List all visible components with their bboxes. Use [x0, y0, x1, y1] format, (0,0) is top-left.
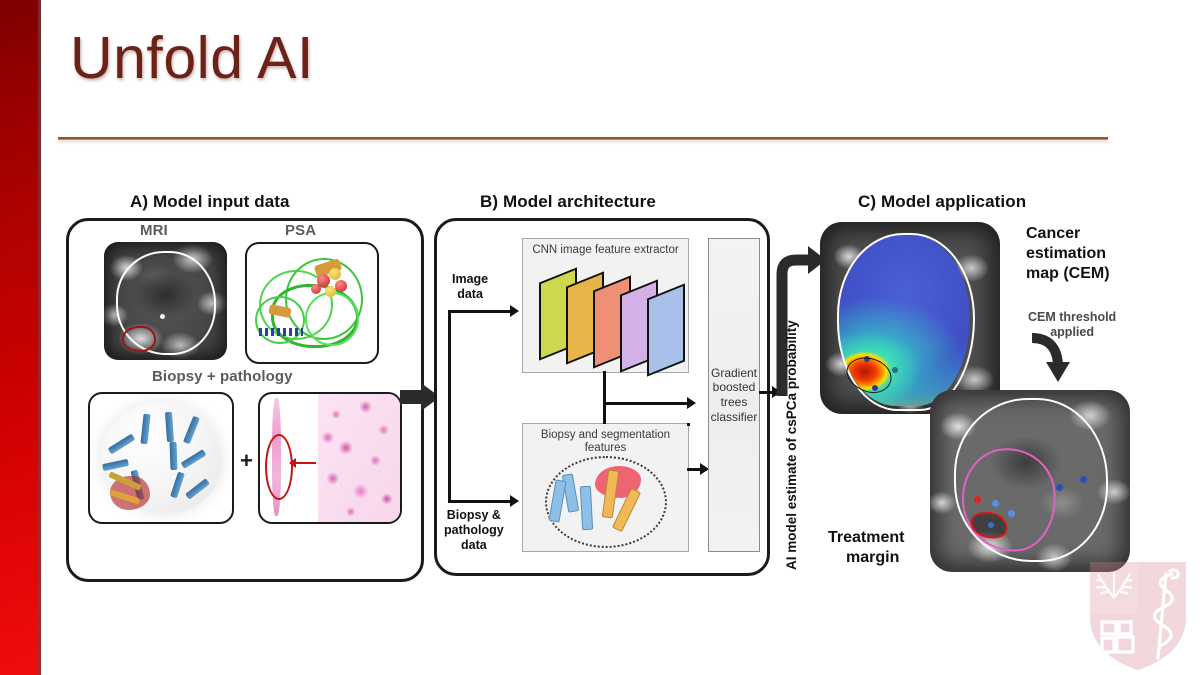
label-margin-line2: margin [846, 548, 899, 568]
label-cem: Cancer estimation map (CEM) [1026, 224, 1110, 284]
label-image-data-line1: Image [452, 272, 488, 286]
psa-ligand-sphere-5 [311, 284, 321, 294]
label-plus: + [240, 448, 253, 474]
mri-bright-spot [160, 314, 165, 319]
label-margin-line1: Treatment [828, 529, 904, 546]
psa-ligand-sphere-3 [335, 280, 347, 292]
he-histology [318, 394, 400, 522]
label-seg-line1: Biopsy and segmentation [541, 429, 670, 441]
label-mri: MRI [140, 222, 168, 239]
cnn-output-down [603, 371, 606, 404]
label-image-data: Image data [452, 272, 488, 302]
biopsy-data-arrowhead [510, 495, 519, 507]
cnn-feature-extractor-block: CNN image feature extractor [522, 238, 689, 373]
label-gbt-line4: classifier [711, 410, 758, 424]
label-biopsy-pathology: Biopsy + pathology [152, 368, 293, 385]
label-gbt-line2: boosted [713, 380, 756, 394]
label-cem-line1: Cancer [1026, 225, 1080, 242]
seg-output-line [603, 402, 606, 424]
seg-output-right [687, 423, 690, 426]
needle-core [170, 442, 178, 470]
biopsy-segmentation-block: Biopsy and segmentation features [522, 423, 689, 552]
label-threshold-line1: CEM threshold [1028, 310, 1116, 324]
cem-image [820, 222, 1000, 414]
biopsy-data-branch [448, 500, 512, 503]
label-biopsy-data: Biopsy & pathology data [444, 508, 504, 553]
label-psa: PSA [285, 222, 316, 239]
mri-lesion-outline [122, 326, 156, 352]
slide: Unfold AI A) Model input data MRI PSA [0, 0, 1200, 675]
label-model-output: AI model estimate of csPCa probability [784, 280, 799, 570]
label-treatment-margin: Treatment margin [828, 528, 904, 568]
harvard-medical-school-crest-logo [1086, 558, 1190, 674]
biopsy-map-image [88, 392, 234, 524]
cnn-output-arrowhead [687, 397, 696, 409]
arrow-threshold-applied [1026, 330, 1086, 392]
label-seg-features: Biopsy and segmentation features [523, 429, 688, 455]
pathology-arrow-line [294, 462, 316, 464]
treatment-margin-image [930, 390, 1130, 572]
pathology-arrow-head [289, 458, 296, 468]
panel-b-title: B) Model architecture [480, 192, 656, 212]
core-bar [580, 486, 593, 531]
psa-ribbon-4 [305, 292, 359, 346]
pathology-slide-image [258, 392, 402, 524]
label-cem-line3: map (CEM) [1026, 265, 1110, 282]
negative-core-dot [992, 500, 999, 507]
mri-image [104, 242, 227, 360]
label-biopsy-data-line1: Biopsy & [447, 508, 501, 522]
label-cem-line2: estimation [1026, 245, 1106, 262]
label-image-data-line2: data [457, 287, 483, 301]
title-divider [58, 137, 1108, 140]
image-data-branch [448, 310, 512, 313]
label-gbt-line1: Gradient [711, 366, 757, 380]
psa-ribbon-5 [255, 296, 305, 344]
psa-ligand-sphere-4 [325, 286, 336, 297]
cem-hotspot-core-2 [892, 367, 898, 373]
positive-core-dot [974, 496, 981, 503]
label-biopsy-data-line3: data [461, 538, 487, 552]
negative-core-dot [1008, 510, 1015, 517]
label-gbt-line3: trees [721, 395, 748, 409]
positive-core-dot [988, 522, 994, 528]
psa-protein-image [245, 242, 379, 364]
panel-b-trunk [448, 310, 451, 502]
cnn-output-right [603, 402, 689, 405]
panel-c-title: C) Model application [858, 192, 1026, 212]
gradient-boosted-trees-block: Gradient boosted trees classifier [708, 238, 760, 552]
psa-ligand-sphere-2 [329, 268, 341, 280]
label-gbt: Gradient boosted trees classifier [711, 366, 758, 425]
cnn-layer-5 [647, 283, 685, 376]
label-biopsy-data-line2: pathology [444, 523, 504, 537]
image-data-arrowhead [510, 305, 519, 317]
panel-a-title: A) Model input data [130, 192, 290, 212]
arrow-a-to-b [400, 390, 422, 404]
negative-core-dot [1080, 476, 1087, 483]
label-seg-line2: features [585, 442, 627, 454]
negative-core-dot [1056, 484, 1063, 491]
psa-sidechains [259, 328, 303, 336]
figure-container: A) Model input data MRI PSA B [0, 180, 1200, 675]
page-title: Unfold AI [70, 28, 314, 90]
label-cnn: CNN image feature extractor [523, 244, 688, 257]
